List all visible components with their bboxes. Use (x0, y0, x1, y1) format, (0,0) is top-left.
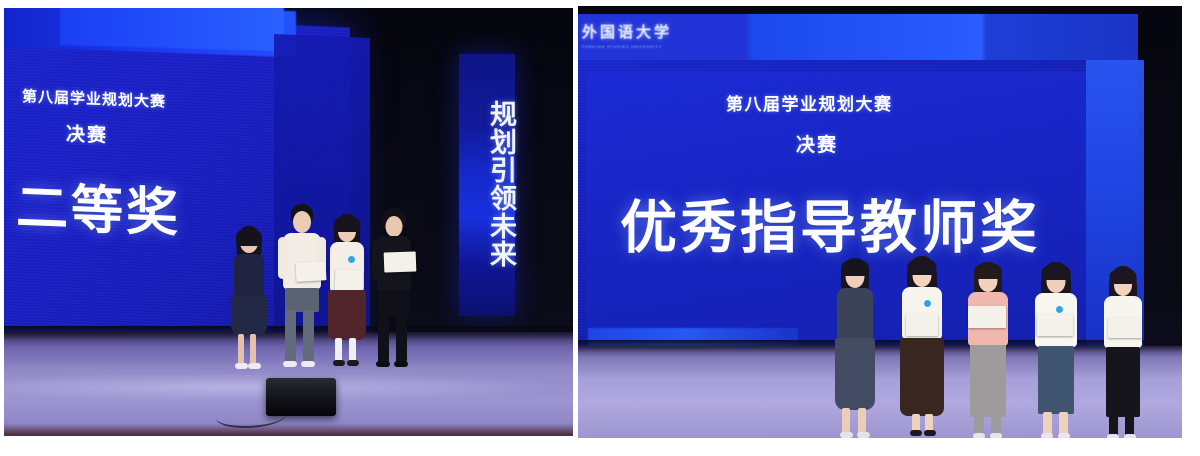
person-r2 (894, 256, 950, 438)
vertical-side-banner: 规划引领未来 (459, 54, 515, 316)
person-r3 (960, 262, 1016, 438)
certificate (384, 251, 417, 272)
university-logo-chinese: 外国语大学 (582, 21, 702, 42)
left-screen-round: 决赛 (66, 119, 108, 148)
right-screen-title: 第八届学业规划大赛 (726, 90, 893, 115)
person-l3 (322, 214, 372, 374)
person-r5 (1096, 266, 1150, 438)
vertical-banner-text: 规划引领未来 (459, 64, 515, 304)
person-l4 (370, 208, 418, 374)
certificate (906, 314, 938, 336)
right-screen-round: 决赛 (796, 130, 838, 157)
university-logo: 外国语大学 FOREIGN STUDIES UNIVERSITY (582, 18, 702, 52)
right-screen-award: 优秀指导教师奖 (620, 182, 1040, 264)
certificate (968, 306, 1006, 328)
certificate (1108, 318, 1142, 338)
screenshot-root: 第八届学业规划大赛 决赛 二等奖 规划引领未来 (0, 0, 1200, 456)
certificate (1037, 314, 1073, 336)
led-top-band-highlight (60, 8, 284, 51)
person-r1 (828, 258, 882, 438)
left-screen-award: 二等奖 (16, 165, 181, 246)
participant-badge (348, 256, 355, 263)
person-r4 (1028, 262, 1084, 438)
participant-badge (1056, 306, 1063, 313)
university-logo-english: FOREIGN STUDIES UNIVERSITY (582, 44, 702, 49)
person-l2 (276, 204, 328, 376)
participant-badge (924, 300, 931, 307)
right-photo: 外国语大学 FOREIGN STUDIES UNIVERSITY 第八届学业规划… (578, 6, 1182, 438)
person-l1 (226, 226, 272, 372)
left-photo: 第八届学业规划大赛 决赛 二等奖 规划引领未来 (4, 8, 573, 436)
